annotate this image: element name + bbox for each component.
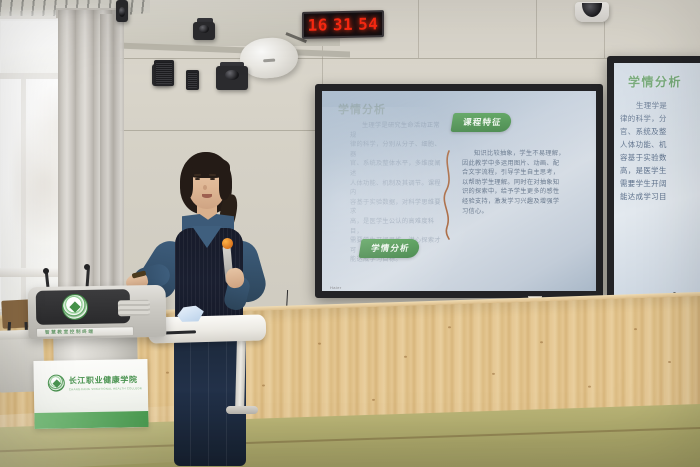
- decorative-squiggle: [440, 149, 456, 241]
- table-foot: [226, 406, 258, 414]
- org-name-en: CHANGJIANG VOCATIONAL HEALTH COLLEGE: [69, 386, 142, 391]
- wall-panel-line: [536, 0, 537, 58]
- classroom-photo: 16 31 54 学情分析 生理学是研究生命活动正常规 律的科学，分别从分子、细…: [0, 0, 700, 467]
- slide-right-column: 知识比较抽象，学生不易理解， 因此教学中多运用图片、动画、配 合文字流程，引导学…: [462, 149, 570, 216]
- clock-hours: 16: [308, 15, 328, 34]
- wall-panel-line: [604, 22, 605, 58]
- lectern-label-text: 智慧教室控制终端: [45, 329, 95, 336]
- display-left[interactable]: 学情分析 生理学是研究生命活动正常规 律的科学，分别从分子、细胞、器 官、系统及…: [315, 84, 603, 298]
- clock-minutes: 31: [333, 15, 353, 34]
- mouth: [202, 194, 212, 198]
- hair-side: [182, 164, 193, 198]
- display-right[interactable]: 学情分析 生理学是 律的科学，分 官、系统及整 人体功能、机 容基于实验数 高，…: [607, 56, 700, 304]
- slide-left: 学情分析 生理学是研究生命活动正常规 律的科学，分别从分子、细胞、器 官、系统及…: [322, 91, 596, 291]
- display-brand-logo: Haier: [330, 285, 342, 290]
- gooseneck-mic-head: [84, 264, 90, 270]
- wall-seam: [120, 130, 320, 131]
- floor-banner: 长江职业健康学院 CHANGJIANG VOCATIONAL HEALTH CO…: [33, 359, 148, 429]
- lectern-label-strip: 智慧教室控制终端: [36, 326, 134, 338]
- slide-faint-title: 学情分析: [338, 101, 386, 117]
- badge-course-features: 课程特征: [451, 113, 513, 132]
- table-leg: [235, 338, 246, 412]
- banner-green-band: [34, 411, 148, 429]
- led-clock: 16 31 54: [302, 10, 384, 39]
- hair-side: [219, 164, 231, 200]
- org-name-cn: 长江职业健康学院: [69, 374, 142, 386]
- wall-speaker-icon: [154, 60, 174, 86]
- speaker-slot: [263, 58, 275, 62]
- nose: [203, 185, 207, 190]
- school-emblem-icon: [48, 374, 65, 391]
- ptz-camera-icon: [193, 22, 215, 40]
- vent-grille: [118, 300, 150, 317]
- clock-seconds: 54: [358, 14, 378, 33]
- slide-right-body: 生理学是 律的科学，分 官、系统及整 人体功能、机 容基于实验数 高，是医学生 …: [620, 99, 698, 203]
- wall-panel-line: [418, 0, 419, 58]
- slide-right-title: 学情分析: [628, 73, 682, 90]
- wall-speaker-icon: [186, 70, 199, 90]
- dome-camera-icon: [575, 2, 609, 22]
- badge-learning-analysis: 学情分析: [359, 239, 421, 258]
- ptz-camera-icon: [216, 66, 248, 90]
- gooseneck-mic-head: [43, 268, 49, 274]
- slide-right: 学情分析 生理学是 律的科学，分 官、系统及整 人体功能、机 容基于实验数 高，…: [614, 63, 700, 297]
- ceiling-device-icon: [116, 0, 128, 22]
